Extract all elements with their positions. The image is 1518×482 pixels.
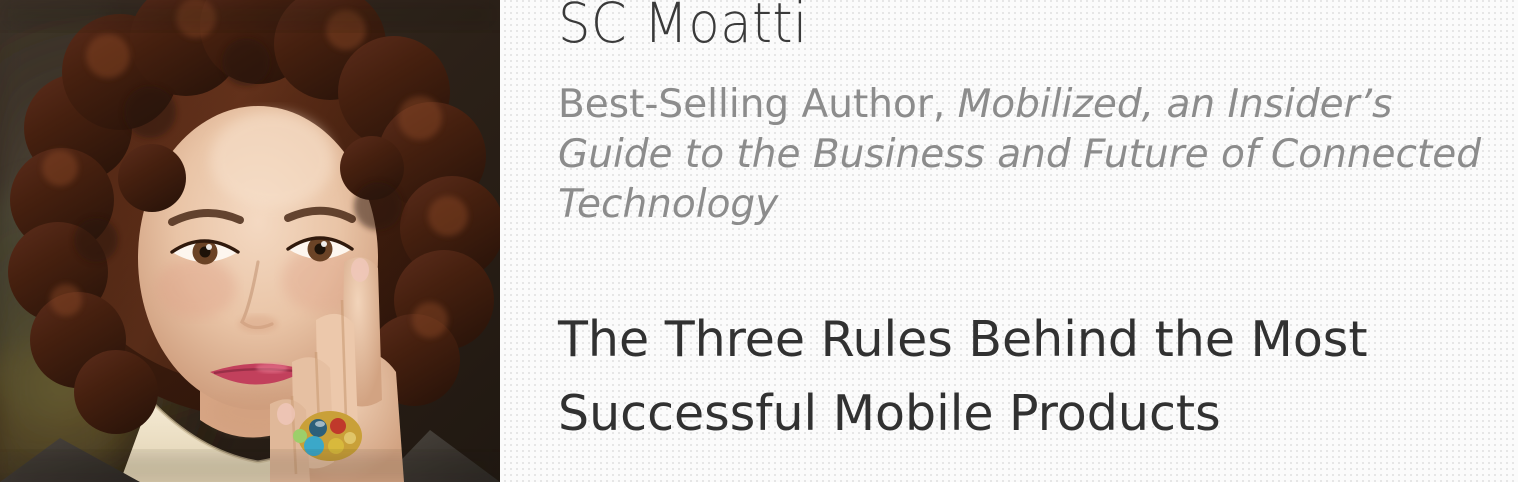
speaker-credential-prefix: Best-Selling Author, [558, 82, 958, 127]
portrait-illustration [0, 0, 500, 482]
speaker-name: SC Moatti [558, 0, 808, 54]
talk-title: The Three Rules Behind the Most Successf… [558, 303, 1498, 451]
speaker-credential: Best-Selling Author, Mobilized, an Insid… [558, 80, 1498, 230]
speaker-slide: SC Moatti Best-Selling Author, Mobilized… [0, 0, 1518, 482]
talk-title-line-1: The Three Rules Behind the Most [558, 303, 1498, 377]
slide-text-column: SC Moatti Best-Selling Author, Mobilized… [500, 0, 1518, 482]
speaker-portrait-photo [0, 0, 500, 482]
talk-title-line-2: Successful Mobile Products [558, 377, 1498, 451]
